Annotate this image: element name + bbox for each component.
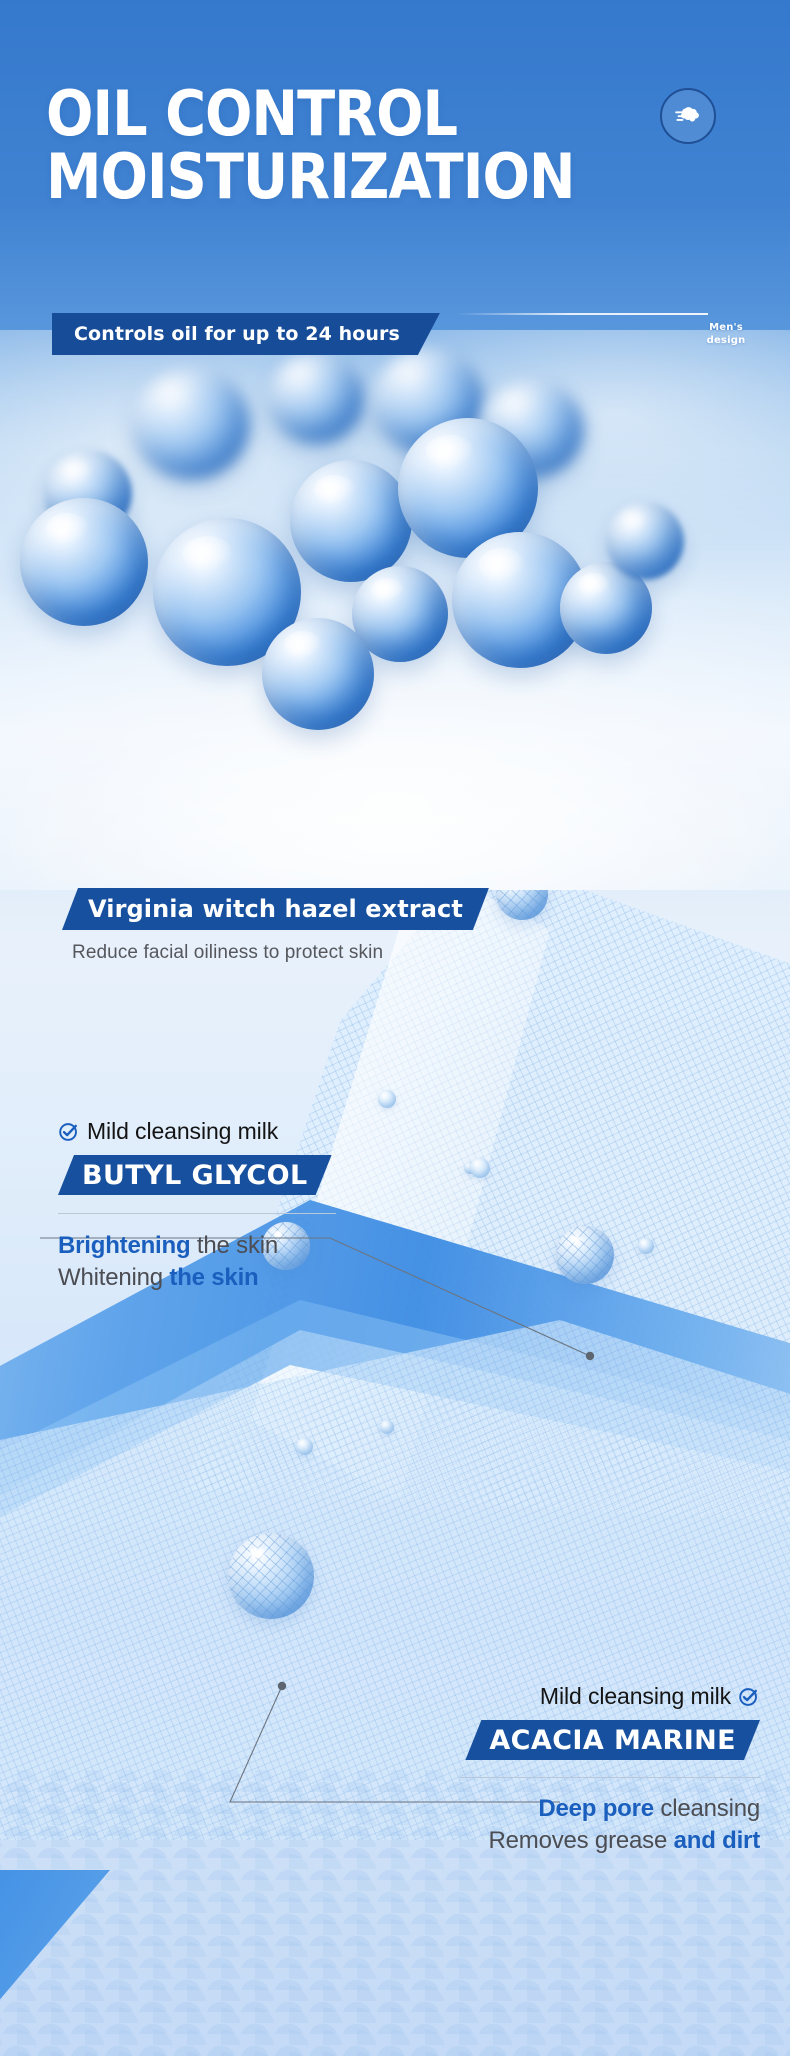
check-circle-icon (738, 1686, 760, 1708)
benefit-strong: Deep pore (538, 1795, 654, 1822)
benefit-rest: Whitening (58, 1264, 169, 1291)
product-poster: OIL CONTROL MOISTURIZATION Controls oil … (0, 0, 790, 2056)
ingredient-block-butyl-glycol: Mild cleansing milk BUTYL GLYCOL Brighte… (58, 1118, 478, 1294)
check-circle-icon (58, 1121, 80, 1143)
benefit-list: Brightening the skin Whitening the skin (58, 1230, 478, 1294)
benefit-line: Whitening the skin (58, 1262, 478, 1294)
ingredient-name-badge: ACACIA MARINE (465, 1720, 760, 1760)
mens-design-rule (456, 313, 708, 315)
mens-design-tag: Men'sdesign (686, 322, 766, 348)
droplet (378, 1090, 396, 1108)
ingredient-eyebrow: Mild cleansing milk (58, 1118, 478, 1145)
gel-bead (290, 460, 412, 582)
bead-mesh (556, 1226, 614, 1284)
wireframe-bead-anchor-bottom (228, 1533, 314, 1619)
wave-serum-image (0, 890, 790, 2056)
ingredient-block-acacia-marine: Mild cleansing milk ACACIA MARINE Deep p… (290, 1683, 760, 1857)
gel-bead (606, 502, 684, 580)
gel-bead-bg (132, 368, 250, 480)
headline-line-2: MOISTURIZATION (46, 148, 746, 205)
ingredient-name-badge: BUTYL GLYCOL (58, 1155, 332, 1195)
benefit-line: Removes grease and dirt (290, 1825, 760, 1857)
foam-cloud-icon (671, 99, 705, 133)
droplet (296, 1438, 313, 1455)
ingredient-name-badge: Virginia witch hazel extract (62, 888, 489, 930)
benefit-list: Deep pore cleansing Removes grease and d… (290, 1793, 760, 1857)
brand-badge (660, 88, 716, 144)
headline: OIL CONTROL MOISTURIZATION (46, 85, 746, 205)
gel-bead (262, 618, 374, 730)
benefit-line: Deep pore cleansing (290, 1793, 760, 1825)
benefit-rest: cleansing (654, 1795, 760, 1822)
benefit-strong: the skin (169, 1264, 258, 1291)
benefit-strong: Brightening (58, 1232, 190, 1259)
divider (460, 1777, 760, 1778)
bead-specular (571, 1236, 580, 1242)
ingredient-eyebrow: Mild cleansing milk (290, 1683, 760, 1710)
benefit-rest: Removes grease (489, 1827, 674, 1854)
droplet (380, 1420, 394, 1434)
ingredient-name: BUTYL GLYCOL (82, 1160, 308, 1191)
eyebrow-label: Mild cleansing milk (540, 1683, 731, 1710)
ingredient-name: Virginia witch hazel extract (88, 895, 463, 923)
divider (58, 1213, 336, 1214)
droplet (638, 1238, 654, 1254)
sub-banner: Controls oil for up to 24 hours (52, 313, 440, 355)
ingredient-description: Reduce facial oiliness to protect skin (72, 942, 489, 964)
ingredient-name: ACACIA MARINE (489, 1725, 736, 1756)
sub-banner-label: Controls oil for up to 24 hours (74, 323, 400, 345)
headline-line-1: OIL CONTROL (46, 85, 746, 142)
benefit-rest: the skin (190, 1232, 278, 1259)
gel-bead-bg (268, 352, 364, 444)
gel-bead (20, 498, 148, 626)
hero-gel-beads-image (0, 330, 790, 890)
bead-specular (250, 1548, 264, 1557)
eyebrow-label: Mild cleansing milk (87, 1118, 278, 1145)
benefit-strong: and dirt (674, 1827, 760, 1854)
ingredient-block-witch-hazel: Virginia witch hazel extract Reduce faci… (62, 888, 489, 964)
bead-mesh (228, 1533, 314, 1619)
benefit-line: Brightening the skin (58, 1230, 478, 1262)
wireframe-bead-anchor-top (556, 1226, 614, 1284)
